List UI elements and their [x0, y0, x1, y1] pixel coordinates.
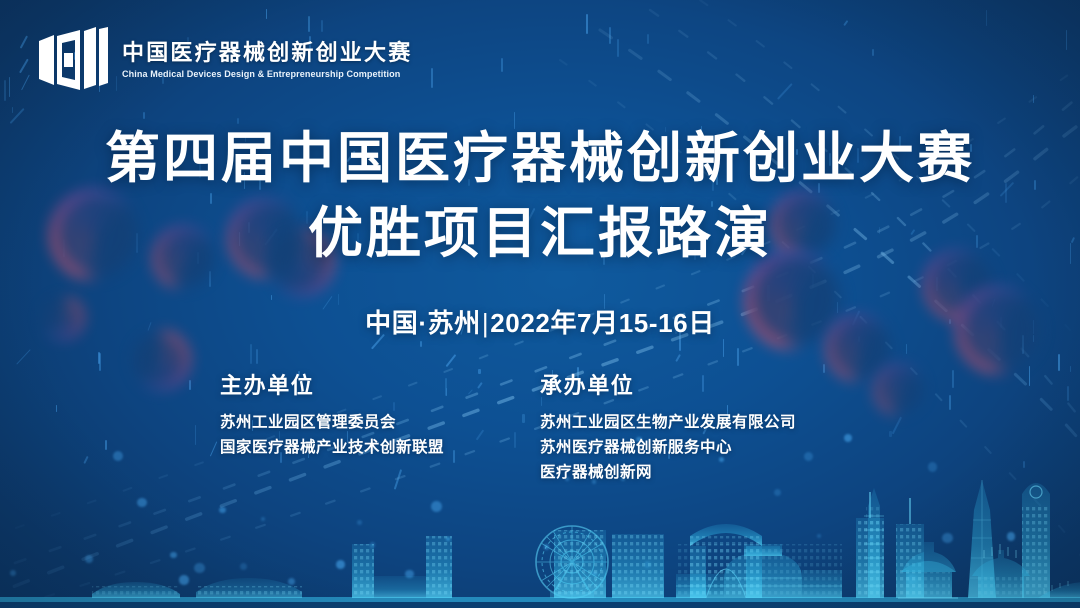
particle-dash [98, 352, 100, 364]
organizer-column-coorganizer: 承办单位 苏州工业园区生物产业发展有限公司 苏州医疗器械创新服务中心 医疗器械创… [540, 368, 860, 485]
bokeh-dot [10, 570, 17, 577]
particle-dash [609, 27, 611, 44]
particle-dash [906, 344, 907, 354]
organizer-entry: 苏州医疗器械创新服务中心 [540, 435, 860, 460]
bokeh-dot [644, 561, 652, 569]
particle-dash [21, 74, 30, 89]
particle-dash [19, 35, 27, 48]
poster-title-line1: 第四届中国医疗器械创新创业大赛 [0, 126, 1080, 191]
particle-dash [16, 349, 31, 364]
particle-dash [675, 354, 681, 362]
event-date-location: 中国·苏州|2022年7月15-16日 [0, 303, 1080, 340]
particle-dash [737, 348, 739, 366]
logo-title-cn: 中国医疗器械创新创业大赛 [122, 41, 412, 66]
poster-title-line2: 优胜项目汇报路演 [0, 201, 1080, 266]
logo-title-en: China Medical Devices Design & Entrepren… [122, 69, 408, 79]
bokeh-dot [85, 555, 93, 563]
bokeh-dot [405, 570, 414, 579]
bokeh-dot [370, 542, 376, 548]
bokeh-dot [774, 489, 782, 497]
bokeh-dot [431, 501, 442, 512]
particle-dash [723, 339, 725, 358]
particle-dash [271, 295, 273, 300]
particle-dash [9, 77, 11, 97]
particle-dash [4, 80, 7, 101]
bokeh-dot [592, 571, 597, 576]
competition-logo: 中国医疗器械创新创业大赛 China Medical Devices Desig… [36, 27, 412, 93]
bokeh-dot [261, 517, 265, 521]
bokeh-dot [907, 574, 918, 585]
bokeh-dot [817, 534, 821, 538]
bokeh-dot [240, 563, 247, 570]
organizer-entry: 医疗器械创新网 [540, 460, 860, 485]
bokeh-dot [179, 575, 188, 584]
organizer-entry: 国家医疗器械产业技术创新联盟 [220, 435, 540, 460]
particle-dash [843, 20, 848, 25]
particle-dash [586, 14, 588, 34]
bokeh-dot [446, 537, 450, 541]
particle-dash [143, 112, 145, 120]
bokeh-dot [288, 578, 295, 585]
poster-canvas: 中国医疗器械创新创业大赛 China Medical Devices Desig… [0, 0, 1080, 608]
event-date: 2022年7月15-16日 [490, 308, 715, 338]
organizer-column-host: 主办单位 苏州工业园区管理委员会 国家医疗器械产业技术创新联盟 [220, 368, 540, 485]
open-door-window-logo-icon [36, 27, 108, 93]
particle-dash [446, 354, 456, 367]
organizer-heading: 主办单位 [220, 368, 540, 400]
bokeh-dot [137, 498, 147, 508]
date-separator: | [481, 308, 490, 338]
particle-dash [420, 341, 422, 348]
organizer-entry: 苏州工业园区生物产业发展有限公司 [540, 410, 860, 435]
particle-dash [777, 83, 792, 99]
bokeh-dot [357, 520, 362, 525]
bokeh-dot [869, 537, 873, 541]
particle-dash [19, 58, 28, 72]
bokeh-dot [942, 533, 952, 543]
bokeh-dot [544, 544, 549, 549]
particle-dash [647, 34, 649, 45]
particle-dash [1033, 95, 1035, 103]
particle-dash [617, 39, 619, 57]
particle-dash [872, 49, 874, 56]
particle-dash [9, 108, 24, 124]
bokeh-dot [336, 560, 345, 569]
particle-dash [237, 118, 239, 124]
particle-dash [986, 10, 988, 25]
organizer-heading: 承办单位 [540, 368, 860, 400]
particle-dash [12, 107, 13, 114]
particle-dash [431, 68, 433, 88]
particle-dash [501, 58, 503, 72]
event-location: 中国·苏州 [365, 308, 481, 338]
bokeh-dot [219, 507, 226, 514]
particle-dash [250, 344, 252, 364]
particle-dash [266, 9, 267, 19]
bokeh-dot [170, 552, 177, 559]
bokeh-dot [194, 563, 205, 574]
particle-dash [256, 349, 258, 364]
organizer-entry: 苏州工业园区管理委员会 [220, 410, 540, 435]
organizer-section: 主办单位 苏州工业园区管理委员会 国家医疗器械产业技术创新联盟 承办单位 苏州工… [0, 368, 1080, 485]
particle-dash [1066, 30, 1068, 50]
bokeh-dot [1007, 532, 1016, 541]
title-block: 第四届中国医疗器械创新创业大赛 优胜项目汇报路演 [0, 126, 1080, 266]
